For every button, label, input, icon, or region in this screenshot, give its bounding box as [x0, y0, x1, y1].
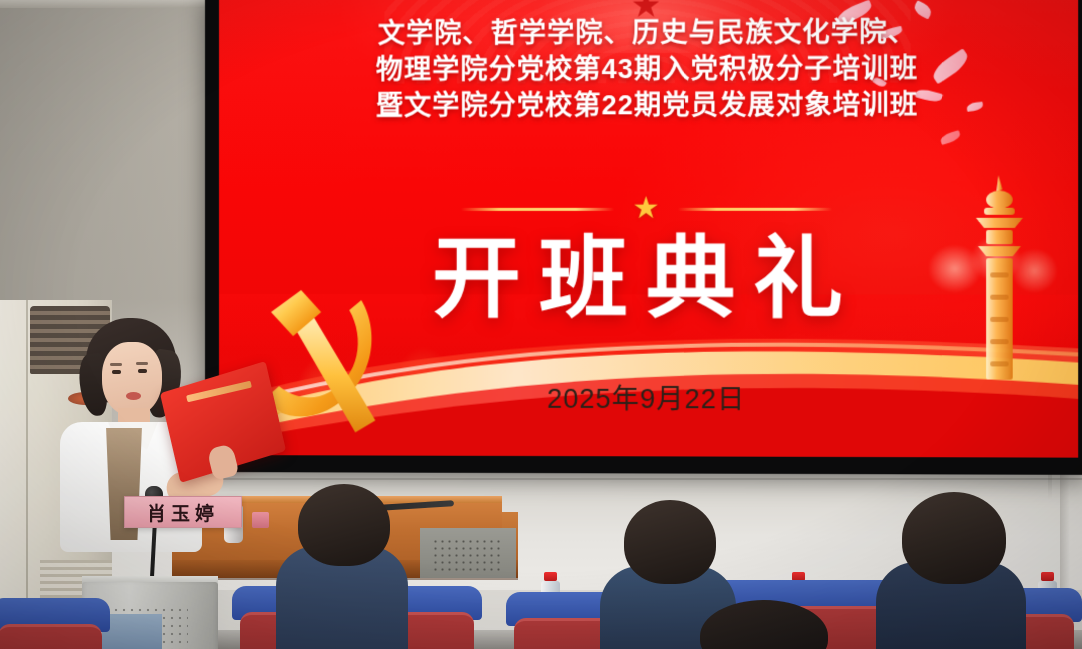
air-conditioner-seam	[26, 300, 28, 649]
chair-back	[0, 624, 102, 649]
star-icon: ★	[632, 194, 659, 224]
speaker-brow	[136, 362, 148, 365]
led-screen: star-icon ★ 文学院、哲学学院、历史与民族文化学院、 物理学院分党校第…	[219, 0, 1078, 458]
wall-pillar	[1060, 470, 1070, 600]
slide-heading: 文学院、哲学学院、历史与民族文化学院、 物理学院分党校第43期入党积极分子培训班…	[219, 13, 1078, 124]
led-screen-bezel: star-icon ★ 文学院、哲学学院、历史与民族文化学院、 物理学院分党校第…	[205, 0, 1082, 475]
divider-line-right	[678, 207, 832, 210]
loudspeaker-grille-icon	[432, 538, 502, 574]
speaker-mouth	[126, 392, 141, 400]
speaker-brow	[110, 363, 122, 366]
ceiling-edge	[0, 0, 205, 8]
podium-nameplate: 肖玉婷	[124, 496, 242, 528]
audience-member	[876, 492, 1026, 649]
slide-heading-line-3: 暨文学院分党校第22期党员发展对象培训班	[219, 86, 1078, 124]
podium-nameplate-text: 肖玉婷	[147, 499, 219, 526]
slide-divider: ★	[219, 189, 1078, 228]
speaker-eye	[112, 370, 121, 374]
audience-head	[624, 500, 716, 584]
yanan-pagoda-icon	[962, 175, 1040, 385]
speaker-face	[102, 342, 162, 416]
slide-date: 2025年9月22日	[219, 376, 1078, 417]
photo-scene: star-icon ★ 文学院、哲学学院、历史与民族文化学院、 物理学院分党校第…	[0, 0, 1082, 649]
slide-heading-line-1: 文学院、哲学学院、历史与民族文化学院、	[219, 13, 1078, 52]
audience-head	[700, 600, 828, 649]
audience-head	[902, 492, 1006, 584]
speaker-trousers	[102, 614, 162, 649]
auditorium-chair	[0, 598, 110, 649]
audience-head	[298, 484, 390, 566]
audience-member	[690, 600, 840, 649]
divider-line-left	[461, 207, 614, 210]
bottle-cap	[1041, 572, 1054, 581]
slide-heading-line-2: 物理学院分党校第43期入党积极分子培训班	[219, 50, 1078, 88]
speaker-eye	[138, 369, 147, 373]
bottle-cap	[544, 572, 557, 581]
audience-member	[276, 484, 408, 649]
